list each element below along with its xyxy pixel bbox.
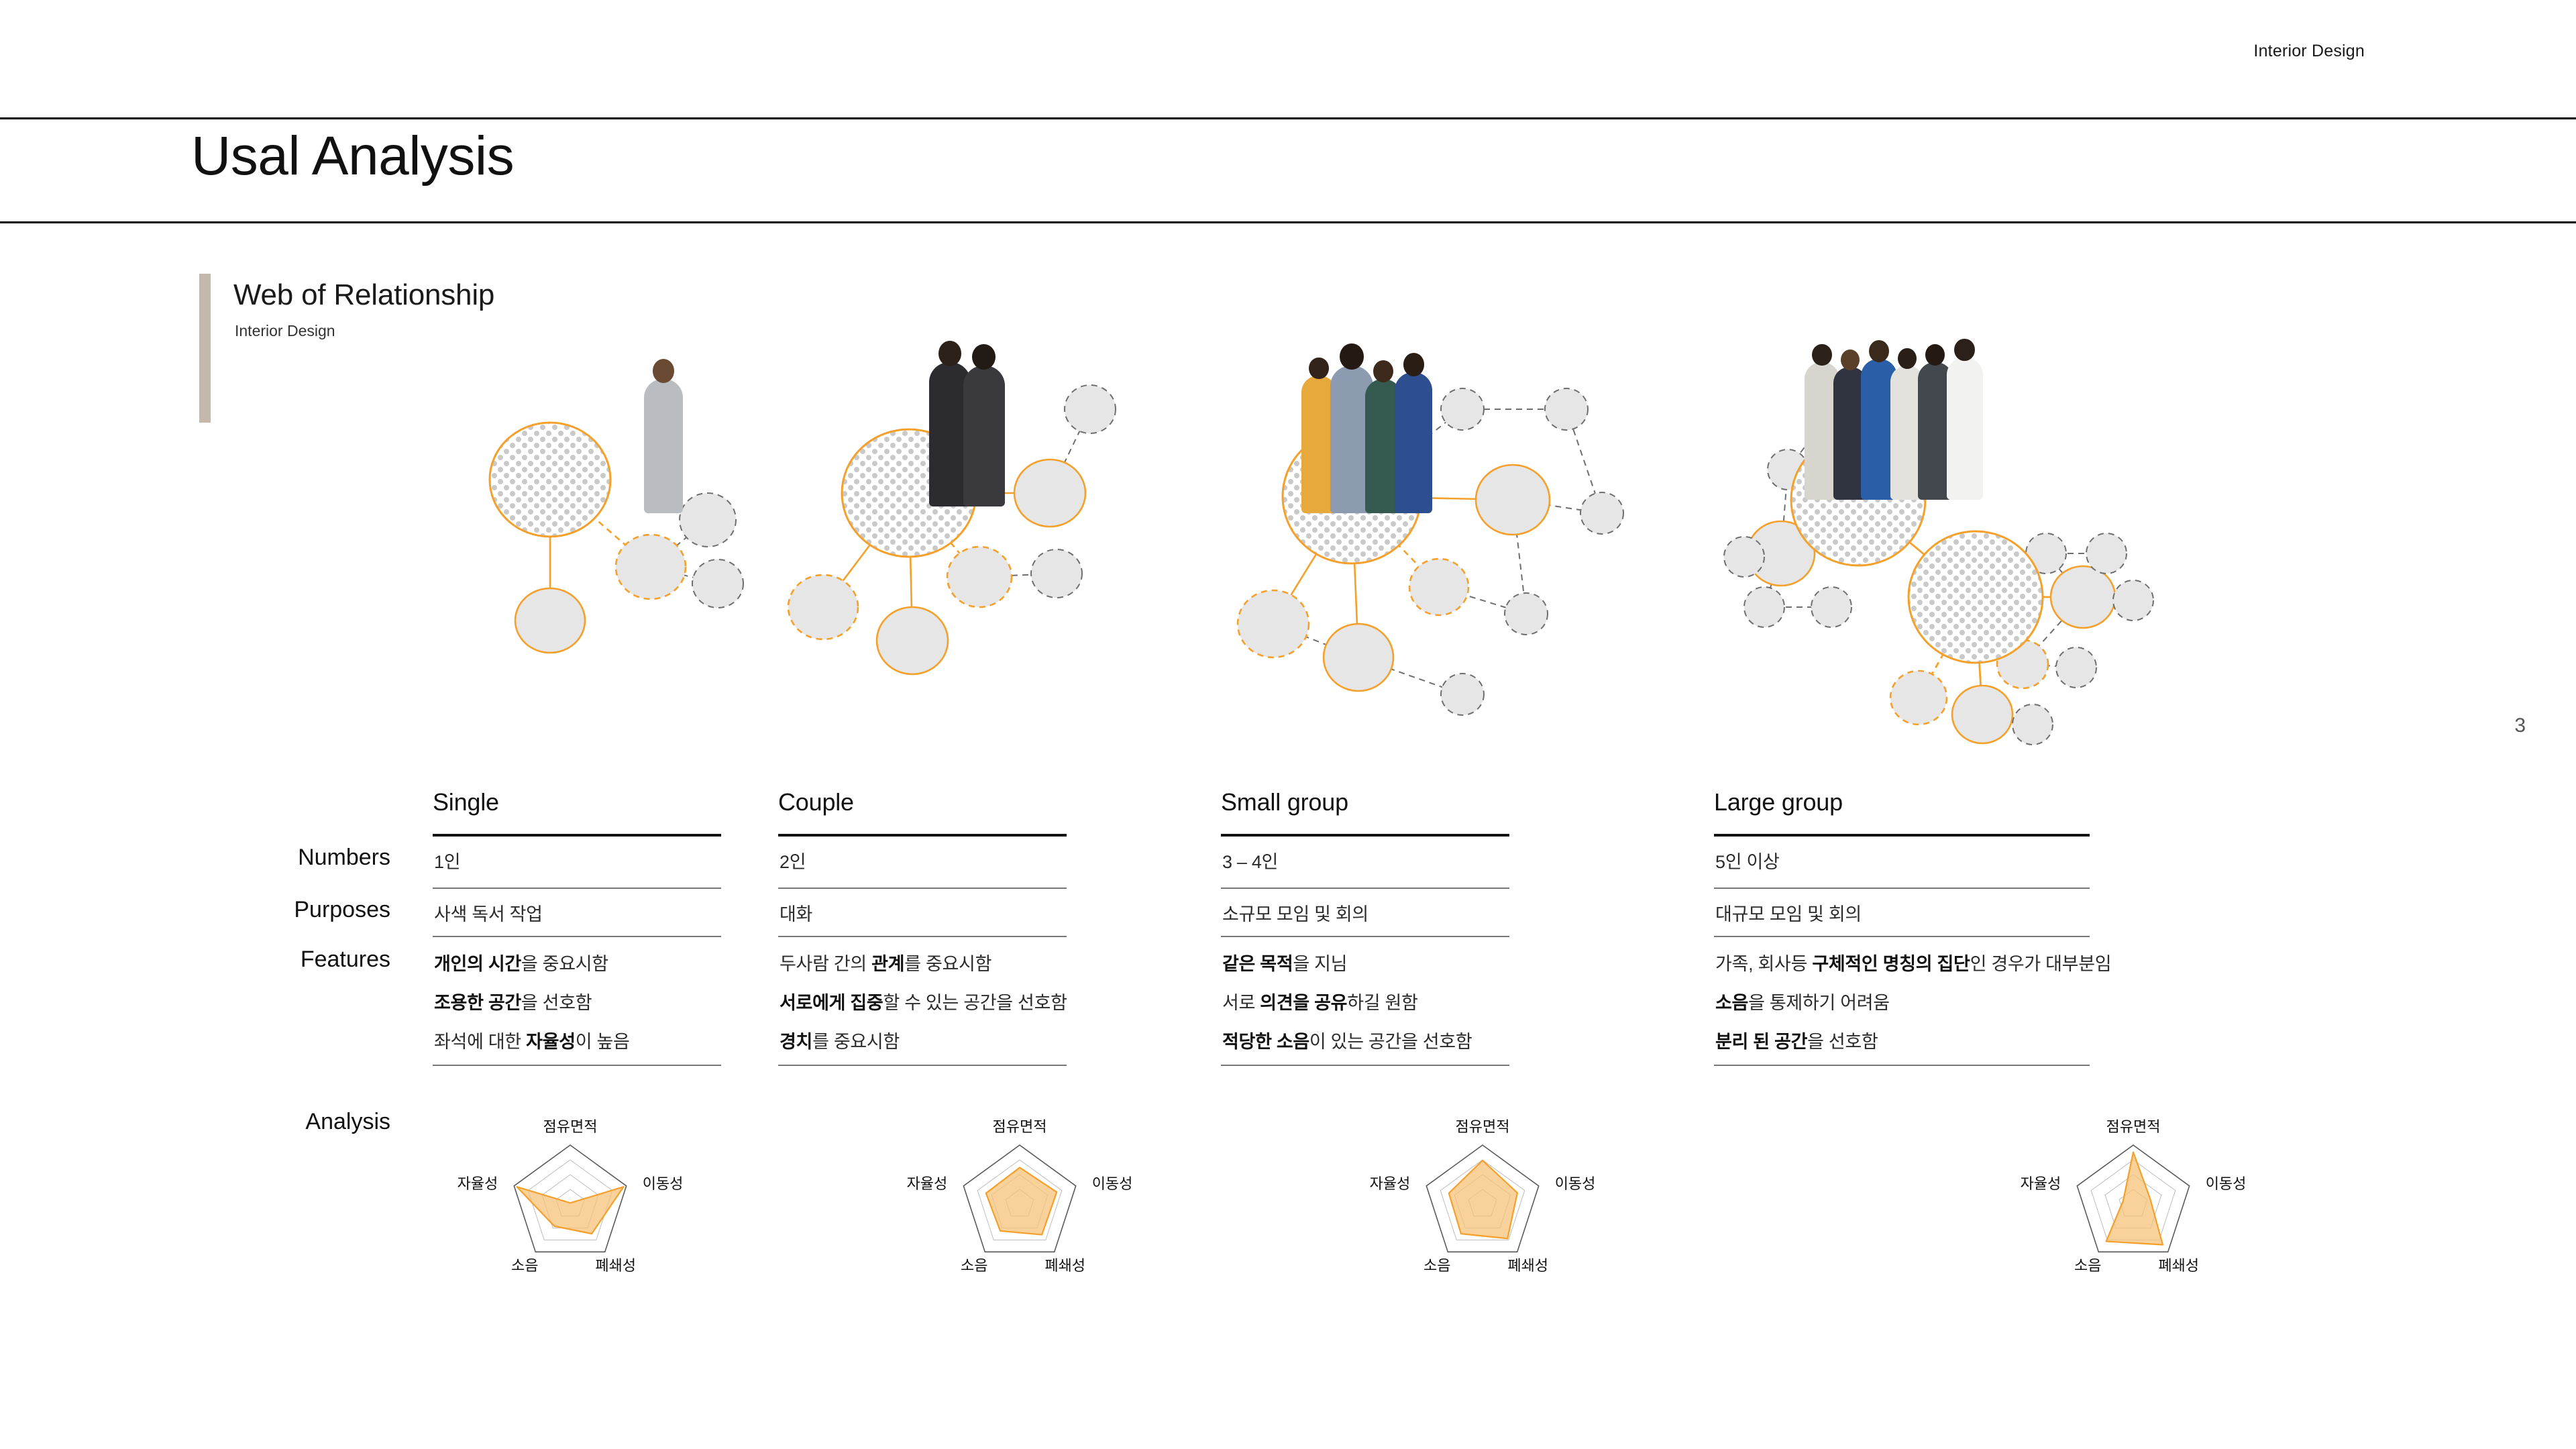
table-cell-purposes: 소규모 모임 및 회의 — [1222, 900, 1368, 926]
radar-axis-label: 소음 — [961, 1257, 987, 1274]
person-head — [1812, 344, 1831, 366]
radar-data-area — [986, 1167, 1057, 1234]
network-node — [1409, 559, 1468, 615]
network-node — [788, 575, 858, 639]
radar-axis-label: 이동성 — [643, 1175, 684, 1192]
radar-svg: 점유면적이동성폐쇄성소음자율성 — [879, 1100, 1161, 1301]
radar-axis-label: 점유면적 — [1456, 1118, 1510, 1135]
couple-network-diagram — [775, 376, 1137, 691]
network-node — [616, 535, 686, 599]
radar-svg: 점유면적이동성폐쇄성소음자율성 — [1992, 1100, 2274, 1301]
comparison-table: NumbersPurposesFeaturesAnalysis Single1인… — [0, 788, 2576, 1090]
table-cell-feature: 서로에게 집중할 수 있는 공간을 선호함 — [780, 988, 1067, 1014]
radar-axis-label: 점유면적 — [543, 1118, 598, 1135]
network-node — [1811, 587, 1851, 627]
network-node — [680, 493, 736, 547]
table-cell-feature: 소음을 통제하기 어려움 — [1715, 988, 1890, 1014]
person-head — [1340, 343, 1364, 370]
table-cell-feature: 가족, 회사등 구체적인 명칭의 집단인 경우가 대부분임 — [1715, 949, 2111, 975]
table-header-rule — [433, 834, 721, 837]
person-head — [972, 344, 996, 370]
network-node — [1065, 385, 1116, 433]
table-column-header: Large group — [1714, 788, 1843, 816]
radar-chart-row: 점유면적이동성폐쇄성소음자율성 점유면적이동성폐쇄성소음자율성 점유면적이동성폐… — [0, 1100, 2576, 1342]
radar-data-area — [2106, 1152, 2163, 1245]
table-header-rule — [1714, 834, 2090, 837]
radar-axis-label: 소음 — [2074, 1257, 2101, 1274]
network-node — [1238, 590, 1309, 657]
person-head — [1925, 344, 1945, 366]
network-node — [515, 588, 585, 653]
slide-root: Interior Design Usal Analysis Web of Rel… — [0, 0, 2576, 1449]
radar-axis-label: 자율성 — [1370, 1175, 1411, 1192]
table-cell-numbers: 1인 — [434, 847, 460, 873]
network-node — [1476, 465, 1550, 535]
table-column-header: Couple — [778, 788, 854, 816]
radar-axis-label: 폐쇄성 — [2158, 1257, 2199, 1274]
table-row-divider — [1714, 1065, 2090, 1066]
table-row-divider — [1221, 1065, 1509, 1066]
table-row-divider — [433, 936, 721, 937]
table-cell-feature: 같은 목적을 지님 — [1222, 949, 1347, 975]
network-node — [692, 559, 743, 608]
table-cell-feature: 서로 의견을 공유하길 원함 — [1222, 988, 1418, 1014]
table-cell-feature: 분리 된 공간을 선호함 — [1715, 1027, 1878, 1053]
radar-axis-label: 이동성 — [1092, 1175, 1133, 1192]
table-row-divider — [778, 888, 1067, 889]
network-hub-node — [1909, 531, 2043, 663]
radar-axis-label: 자율성 — [907, 1175, 948, 1192]
network-node — [1744, 587, 1784, 627]
radar-chart-single: 점유면적이동성폐쇄성소음자율성 — [429, 1100, 711, 1301]
table-cell-feature: 두사람 간의 관계를 중요시함 — [780, 949, 991, 975]
table-header-rule — [778, 834, 1067, 837]
person-head — [1841, 350, 1860, 370]
header-bottom-rule — [0, 221, 2576, 223]
person-head — [1869, 340, 1889, 362]
radar-data-area — [517, 1187, 623, 1234]
table-row-divider — [1221, 936, 1509, 937]
table-cell-feature: 개인의 시간을 중요시함 — [434, 949, 608, 975]
person-head — [1898, 348, 1917, 369]
network-svg — [443, 376, 758, 678]
network-node — [2113, 580, 2153, 621]
section-title: Web of Relationship — [233, 278, 494, 312]
person-head — [1309, 358, 1328, 379]
network-node — [1441, 388, 1484, 430]
table-cell-purposes: 대화 — [780, 900, 812, 926]
network-node — [2012, 704, 2053, 745]
network-node — [1014, 460, 1085, 527]
table-cell-feature: 좌석에 대한 자율성이 높음 — [434, 1027, 630, 1053]
network-node — [1890, 671, 1947, 724]
radar-axis-label: 폐쇄성 — [595, 1257, 636, 1274]
large-group-network-diagram — [1717, 376, 2187, 765]
person-figure — [1395, 372, 1432, 513]
network-node — [1324, 624, 1393, 691]
table-column-header: Single — [433, 788, 499, 816]
header-meta-label: Interior Design — [2253, 42, 2365, 61]
table-row-divider — [433, 888, 721, 889]
radar-chart-small-group: 점유면적이동성폐쇄성소음자율성 — [1342, 1100, 1623, 1301]
table-cell-numbers: 2인 — [780, 847, 806, 873]
table-row-divider — [433, 1065, 721, 1066]
network-node — [1724, 537, 1764, 577]
person-head — [653, 359, 674, 383]
radar-axis-label: 소음 — [511, 1257, 538, 1274]
page-title: Usal Analysis — [191, 127, 514, 185]
table-row-label-features: Features — [301, 947, 390, 973]
table-row-label-purposes: Purposes — [294, 897, 390, 923]
person-head — [1403, 353, 1424, 376]
single-network-diagram — [443, 376, 758, 678]
network-hub-node — [490, 423, 610, 537]
network-node — [2056, 647, 2096, 688]
table-cell-feature: 경치를 중요시함 — [780, 1027, 900, 1053]
network-node — [1952, 686, 2012, 743]
radar-axis-label: 이동성 — [2206, 1175, 2247, 1192]
table-row-divider — [1714, 936, 2090, 937]
network-diagram-row — [0, 376, 2576, 805]
network-node — [2086, 533, 2127, 574]
table-row-divider — [778, 1065, 1067, 1066]
radar-chart-couple: 점유면적이동성폐쇄성소음자율성 — [879, 1100, 1161, 1301]
table-cell-numbers: 5인 이상 — [1715, 847, 1780, 873]
network-node — [1505, 593, 1548, 635]
table-row-divider — [1714, 888, 2090, 889]
radar-axis-label: 자율성 — [458, 1175, 498, 1192]
table-row-label-numbers: Numbers — [298, 845, 390, 871]
radar-axis-label: 점유면적 — [993, 1118, 1047, 1135]
table-cell-feature: 조용한 공간을 선호함 — [434, 988, 592, 1014]
table-cell-feature: 적당한 소음이 있는 공간을 선호함 — [1222, 1027, 1472, 1053]
network-node — [877, 607, 948, 674]
network-node — [2051, 566, 2115, 628]
table-column-header: Small group — [1221, 788, 1348, 816]
network-node — [1441, 674, 1484, 715]
person-head — [1954, 339, 1974, 361]
person-figure — [644, 379, 683, 513]
person-figure — [963, 366, 1005, 506]
table-row-divider — [778, 936, 1067, 937]
radar-axis-label: 자율성 — [2021, 1175, 2061, 1192]
radar-svg: 점유면적이동성폐쇄성소음자율성 — [1342, 1100, 1623, 1301]
person-figure — [1947, 358, 1983, 500]
small-group-network-diagram — [1221, 376, 1637, 731]
radar-axis-label: 폐쇄성 — [1044, 1257, 1085, 1274]
person-head — [938, 341, 962, 366]
radar-axis-label: 폐쇄성 — [1507, 1257, 1548, 1274]
table-header-rule — [1221, 834, 1509, 837]
header-top-rule — [0, 117, 2576, 119]
radar-axis-label: 소음 — [1424, 1257, 1450, 1274]
radar-chart-large-group: 점유면적이동성폐쇄성소음자율성 — [1992, 1100, 2274, 1301]
network-node — [1031, 549, 1082, 598]
network-node — [1580, 492, 1623, 534]
table-row-divider — [1221, 888, 1509, 889]
network-node — [947, 547, 1012, 607]
section-subtitle: Interior Design — [235, 322, 335, 340]
table-cell-purposes: 사색 독서 작업 — [434, 900, 543, 926]
radar-svg: 점유면적이동성폐쇄성소음자율성 — [429, 1100, 711, 1301]
radar-axis-label: 점유면적 — [2106, 1118, 2161, 1135]
radar-axis-label: 이동성 — [1555, 1175, 1596, 1192]
table-cell-numbers: 3 – 4인 — [1222, 847, 1278, 873]
network-node — [1545, 388, 1588, 430]
radar-data-area — [1449, 1161, 1517, 1238]
table-cell-purposes: 대규모 모임 및 회의 — [1715, 900, 1862, 926]
